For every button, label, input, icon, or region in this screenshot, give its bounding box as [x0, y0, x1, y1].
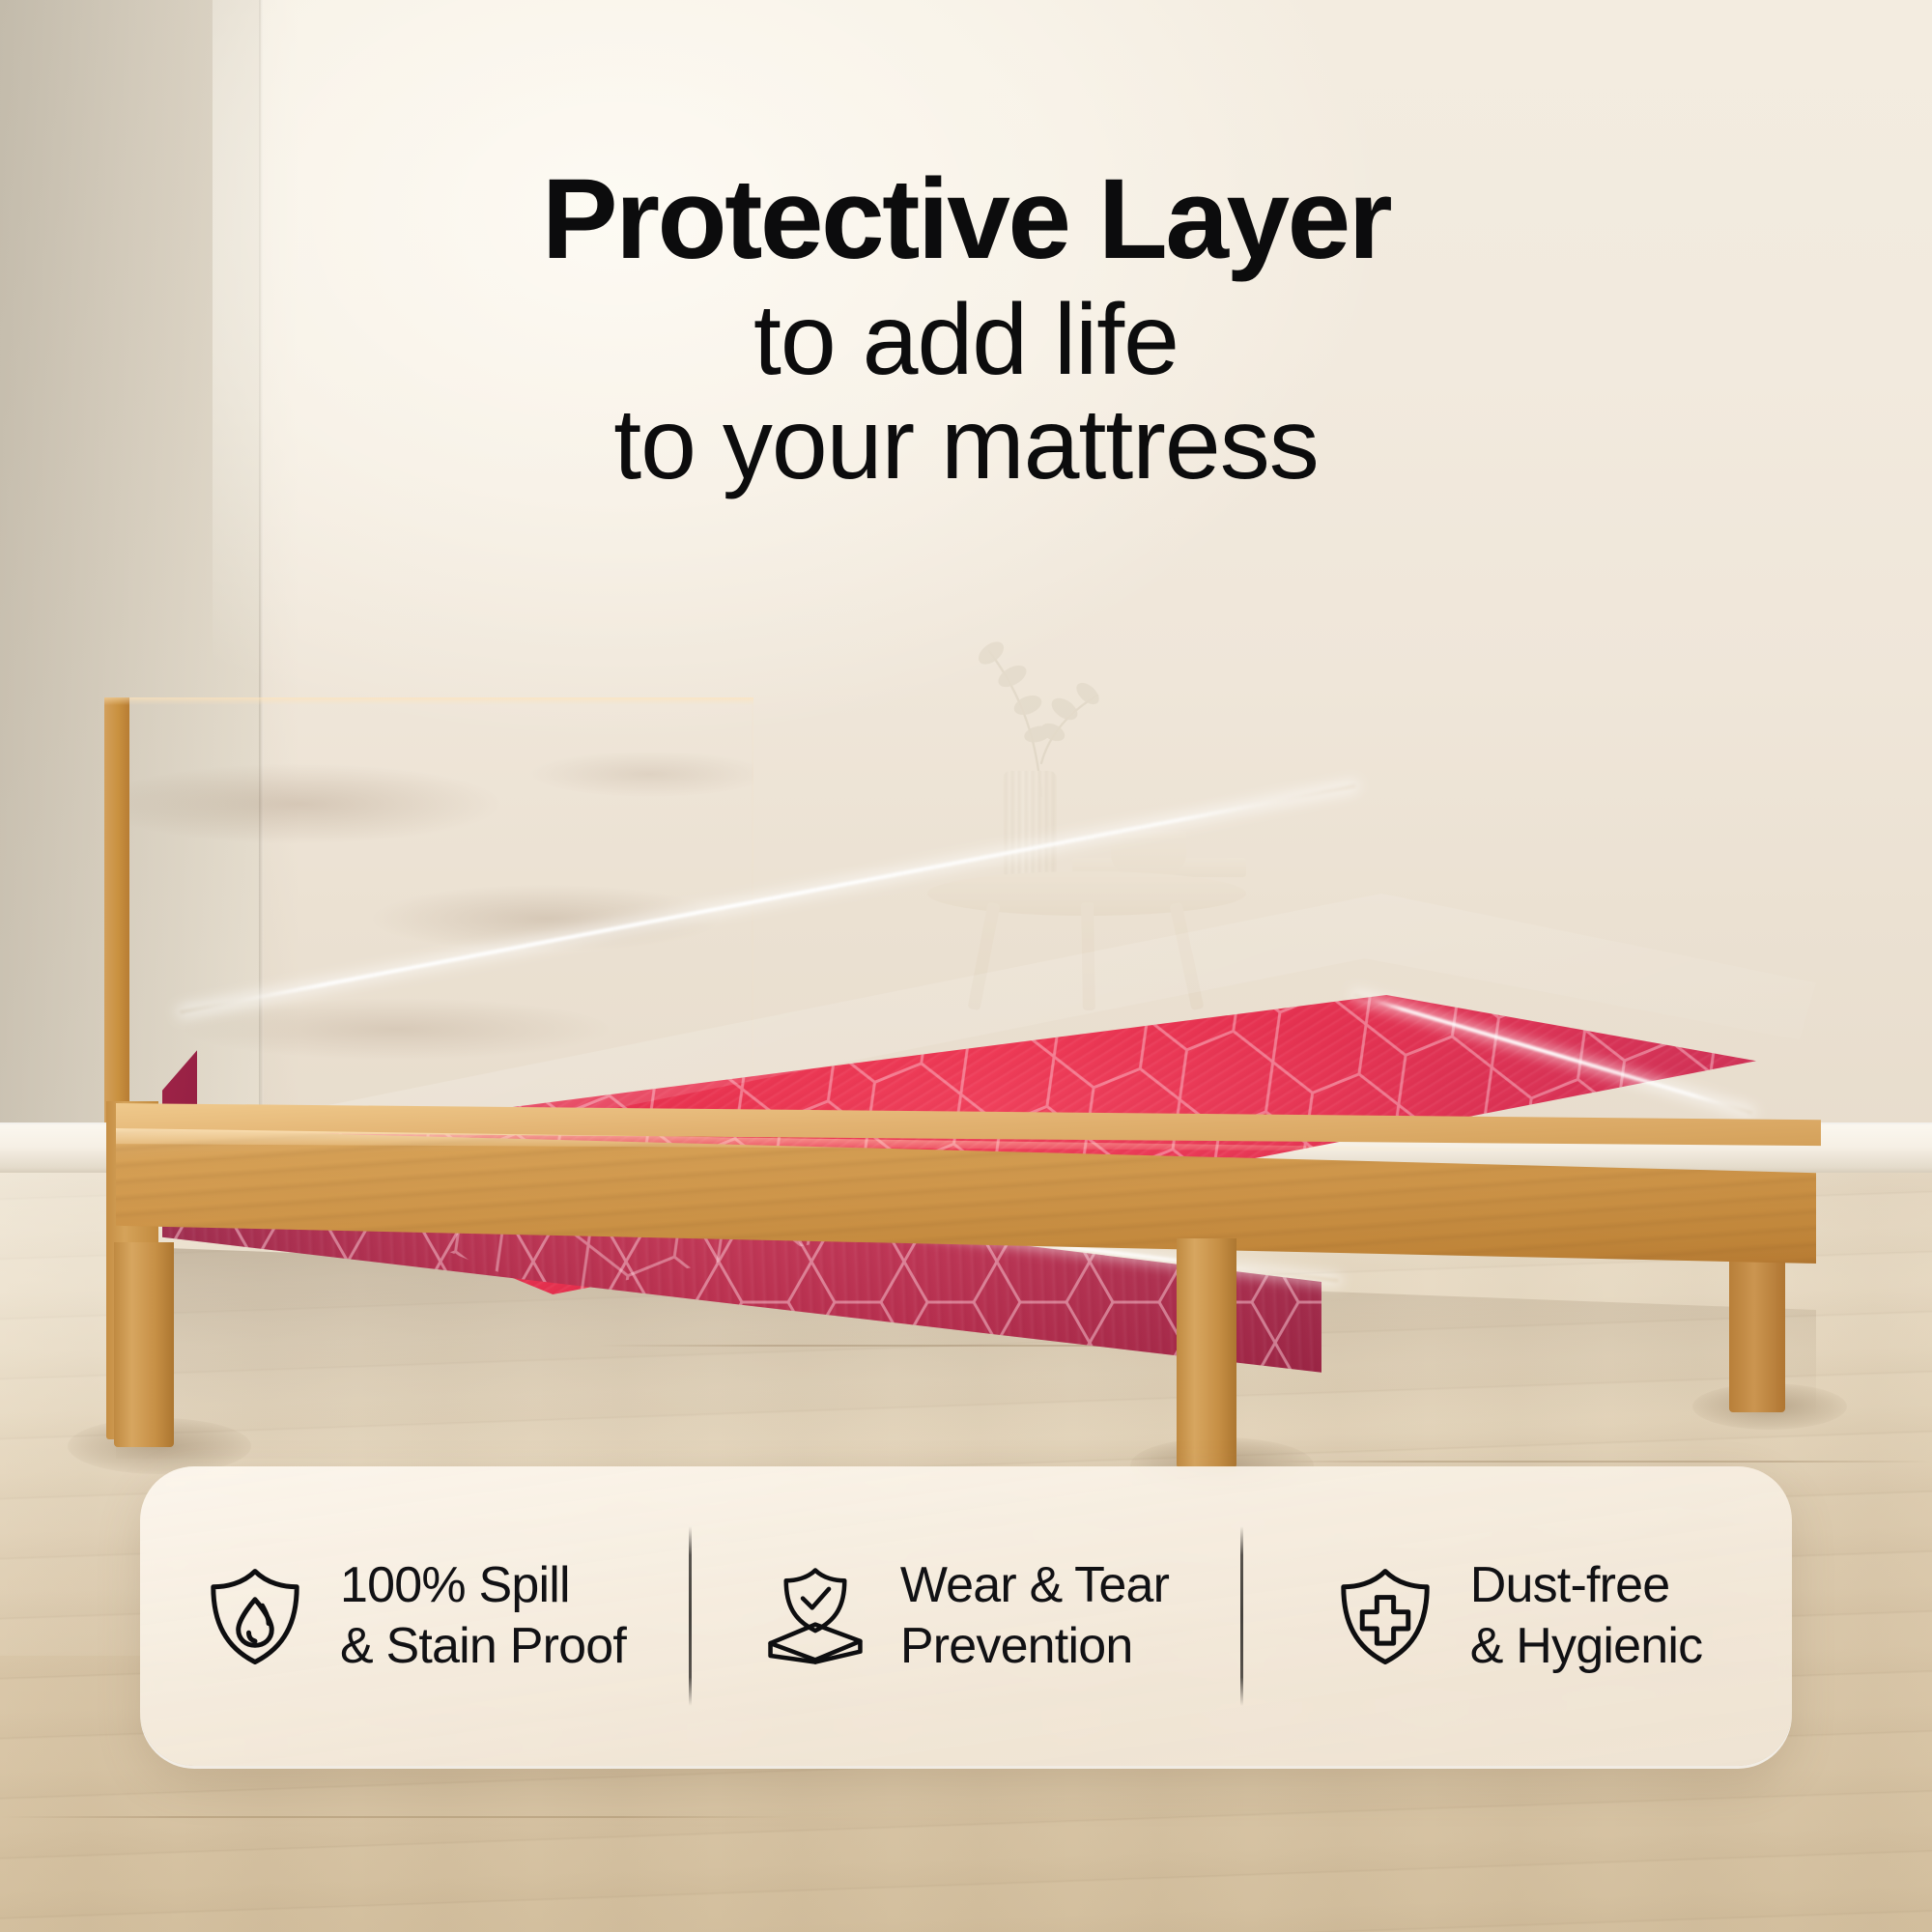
- headline-line-3: to your mattress: [0, 394, 1932, 495]
- product-banner: Protective Layer to add life to your mat…: [0, 0, 1932, 1932]
- feature-wear-tear-prevention: Wear & Tear Prevention: [692, 1555, 1240, 1678]
- feature-spill-stain-proof: 100% Spill & Stain Proof: [140, 1555, 689, 1678]
- headline-line-2: to add life: [0, 290, 1932, 390]
- headline-block: Protective Layer to add life to your mat…: [0, 162, 1932, 495]
- film-edge-glow-back: [180, 784, 1356, 1014]
- feature-label: Dust-free & Hygienic: [1470, 1555, 1703, 1678]
- bed-leg-foot-front: [1177, 1238, 1236, 1468]
- feature-card: 100% Spill & Stain Proof Wear & Tear Pre…: [140, 1466, 1792, 1766]
- headline-line-1: Protective Layer: [0, 162, 1932, 276]
- feature-label-line-1: Dust-free: [1470, 1557, 1670, 1613]
- shield-droplet-icon: [203, 1564, 307, 1668]
- feature-label-line-2: Prevention: [900, 1618, 1133, 1674]
- shield-plus-icon: [1333, 1564, 1437, 1668]
- feature-label-line-2: & Stain Proof: [340, 1618, 626, 1674]
- shield-check-mattress-icon: [763, 1564, 867, 1668]
- feature-label: 100% Spill & Stain Proof: [340, 1555, 626, 1678]
- feature-label-line-2: & Hygienic: [1470, 1618, 1703, 1674]
- feature-label-line-1: Wear & Tear: [900, 1557, 1169, 1613]
- feature-label: Wear & Tear Prevention: [900, 1555, 1169, 1678]
- feature-label-line-1: 100% Spill: [340, 1557, 570, 1613]
- bed-leg-head-front: [114, 1242, 174, 1447]
- feature-dust-free-hygienic: Dust-free & Hygienic: [1243, 1555, 1792, 1678]
